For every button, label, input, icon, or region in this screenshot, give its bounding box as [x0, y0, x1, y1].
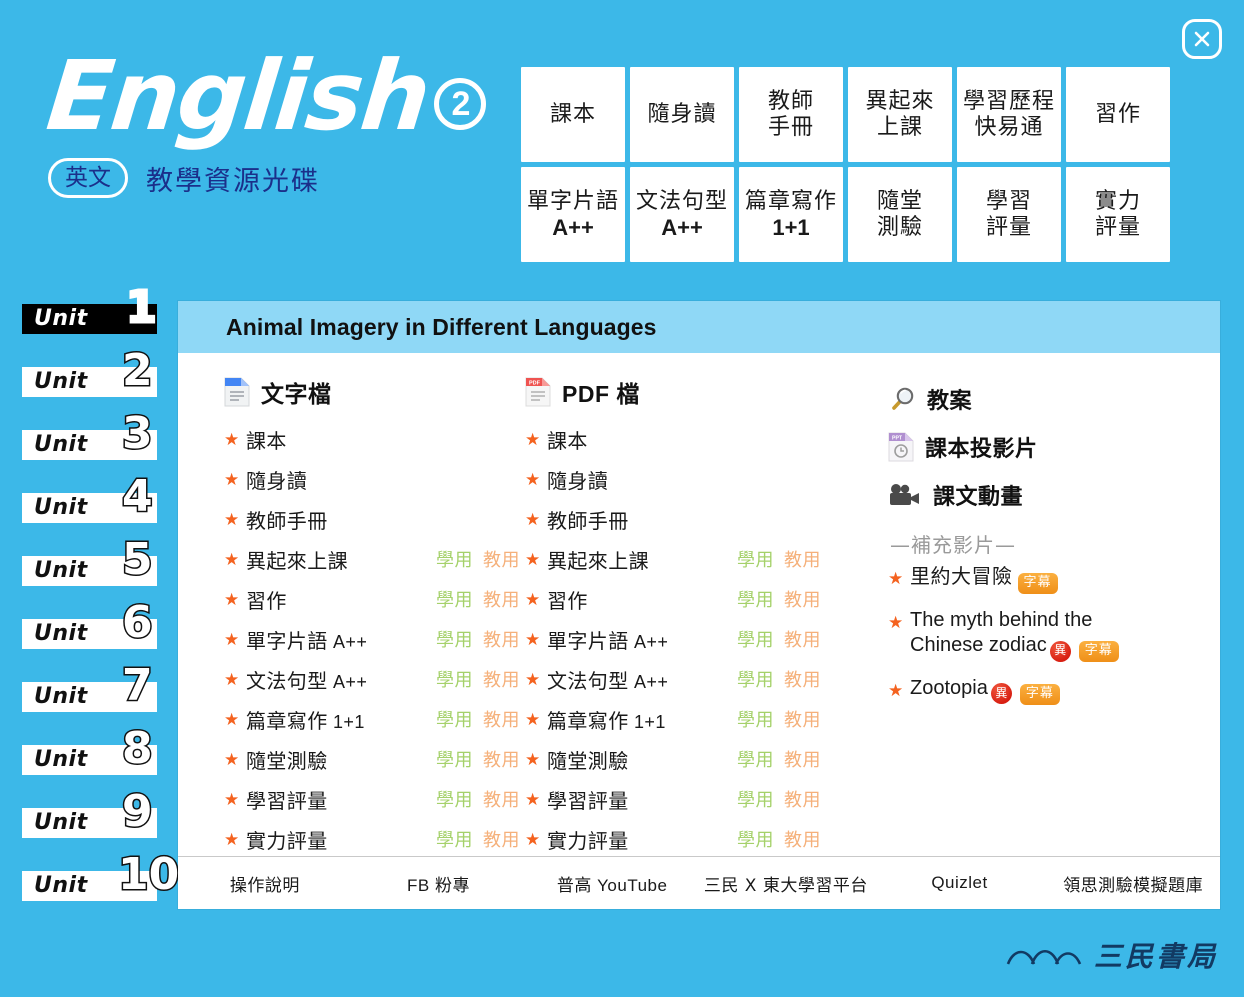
menu-item-2[interactable]: 隨身讀: [630, 67, 734, 162]
pdf-item-list: ★課本★隨身讀★教師手冊★異起來上課學用教用★習作學用教用★單字片語 A++學用…: [525, 419, 838, 859]
pdf-item-row[interactable]: ★教師手冊: [525, 499, 838, 539]
row-label-suffix: A++: [629, 632, 669, 652]
menu-item-5[interactable]: 學習歷程快易通: [957, 67, 1061, 162]
brand-wordmark: English 2: [48, 48, 508, 144]
student-version-link[interactable]: 學用: [737, 586, 774, 612]
unit-button-8[interactable]: Unit8: [22, 737, 172, 781]
video-title-wrap: The myth behind the Chinese zodiac異字幕: [910, 608, 1140, 662]
close-icon: [1192, 29, 1212, 49]
student-version-link[interactable]: 學用: [436, 786, 473, 812]
doc-item-row[interactable]: ★教師手冊: [224, 499, 503, 539]
footer-link-2[interactable]: FB 粉專: [352, 871, 526, 896]
row-variant-links: 學用教用: [737, 706, 845, 732]
pdf-item-row[interactable]: ★學習評量學用教用: [525, 779, 838, 819]
menu-item-11[interactable]: 學習評量: [957, 167, 1061, 262]
star-icon: ★: [224, 511, 246, 528]
unit-button-9[interactable]: Unit9: [22, 800, 172, 844]
student-version-link[interactable]: 學用: [737, 666, 774, 692]
pdf-item-row-label: 教師手冊: [547, 505, 629, 534]
doc-item-row[interactable]: ★隨堂測驗學用教用: [224, 739, 503, 779]
brand-volume-number: 2: [434, 78, 486, 130]
menu-item-line: 快易通: [974, 115, 1043, 141]
textbook-slides-label: 課本投影片: [925, 431, 1038, 463]
publisher-name: 三民書局: [1094, 935, 1218, 975]
menu-item-line: 篇章寫作: [745, 189, 837, 215]
row-variant-links: 學用教用: [737, 546, 845, 572]
teacher-version-link[interactable]: 教用: [784, 666, 821, 692]
unit-button-10[interactable]: Unit10: [22, 863, 172, 907]
menu-item-line: 課本: [550, 102, 596, 128]
pdf-item-row-label: 實力評量: [547, 825, 629, 854]
yi-badge: 異: [1050, 641, 1071, 662]
star-icon: ★: [224, 471, 246, 488]
brand-subtitle: 教學資源光碟: [146, 159, 320, 198]
row-label-suffix: A++: [629, 672, 669, 692]
star-icon: ★: [224, 631, 246, 648]
student-version-link[interactable]: 學用: [436, 826, 473, 852]
pdf-item-row-label: 隨堂測驗: [547, 745, 629, 774]
menu-item-line: 手冊: [768, 115, 814, 141]
subject-pill: 英文: [48, 158, 128, 198]
row-label-suffix: 1+1: [629, 712, 666, 732]
footer-link-4[interactable]: 三民 X 東大學習平台: [699, 871, 873, 896]
unit-button-1[interactable]: Unit1: [22, 296, 172, 340]
unit-word: Unit: [34, 558, 88, 583]
doc-file-icon: [224, 377, 250, 407]
doc-item-row[interactable]: ★課本: [224, 419, 503, 459]
doc-item-row[interactable]: ★學習評量學用教用: [224, 779, 503, 819]
pdf-item-row-label: 異起來上課: [547, 545, 649, 574]
doc-item-row[interactable]: ★篇章寫作 1+1學用教用: [224, 699, 503, 739]
doc-item-row-label: 文法句型 A++: [246, 665, 367, 694]
row-label-suffix: A++: [328, 632, 368, 652]
doc-item-row-label: 隨身讀: [246, 465, 307, 494]
doc-item-row[interactable]: ★異起來上課學用教用: [224, 539, 503, 579]
student-version-link[interactable]: 學用: [737, 706, 774, 732]
menu-item-line: 異起來: [865, 89, 934, 115]
doc-item-row-label: 單字片語 A++: [246, 625, 367, 654]
pdf-item-row[interactable]: ★習作學用教用: [525, 579, 838, 619]
svg-text:PDF: PDF: [529, 381, 541, 387]
star-icon: ★: [224, 711, 246, 728]
student-version-link[interactable]: 學用: [737, 546, 774, 572]
star-icon: ★: [525, 591, 547, 608]
pdf-column-label: PDF 檔: [562, 375, 640, 409]
misc-column: 教案 PPT 課本投影片: [838, 375, 1198, 859]
unit-word: Unit: [34, 684, 88, 709]
brand-wordmark-text: English: [43, 48, 433, 144]
star-icon: ★: [224, 671, 246, 688]
star-icon: ★: [525, 791, 547, 808]
wave-mountain-logo-icon: [1006, 940, 1084, 970]
subtitle-badge: 字幕: [1020, 684, 1060, 705]
unit-rail: Unit1Unit2Unit3Unit4Unit5Unit6Unit7Unit8…: [22, 296, 172, 926]
menu-item-line: 上課: [877, 115, 923, 141]
text-animation-label: 課文動畫: [933, 479, 1023, 511]
doc-item-row[interactable]: ★隨身讀: [224, 459, 503, 499]
pdf-item-row-label: 篇章寫作 1+1: [547, 705, 666, 734]
unit-number: 1: [126, 286, 157, 330]
resource-panel: Animal Imagery in Different Languages 文字…: [178, 301, 1220, 909]
star-icon: ★: [525, 751, 547, 768]
student-version-link[interactable]: 學用: [737, 626, 774, 652]
unit-number: 6: [122, 601, 153, 645]
subtitle-badge: 字幕: [1079, 641, 1119, 662]
unit-number: 10: [118, 853, 179, 897]
pdf-item-row[interactable]: ★篇章寫作 1+1學用教用: [525, 699, 838, 739]
doc-column-label: 文字檔: [261, 375, 332, 409]
student-version-link[interactable]: 學用: [737, 746, 774, 772]
row-variant-links: 學用教用: [737, 746, 845, 772]
star-icon: ★: [888, 682, 910, 699]
menu-item-9[interactable]: 篇章寫作1+1: [739, 167, 843, 262]
star-icon: ★: [525, 671, 547, 688]
video-row[interactable]: ★Zootopia異字幕: [888, 676, 1198, 705]
menu-item-1[interactable]: 課本: [521, 67, 625, 162]
star-icon: ★: [525, 631, 547, 648]
student-version-link[interactable]: 學用: [737, 826, 774, 852]
student-version-link[interactable]: 學用: [737, 786, 774, 812]
footer-link-3[interactable]: 普高 YouTube: [525, 871, 699, 896]
ppt-file-icon: PPT: [888, 432, 914, 462]
pdf-item-row[interactable]: ★課本: [525, 419, 838, 459]
yi-badge: 異: [991, 683, 1012, 704]
star-icon: ★: [224, 751, 246, 768]
doc-item-row-label: 篇章寫作 1+1: [246, 705, 365, 734]
pdf-item-row[interactable]: ★隨身讀: [525, 459, 838, 499]
menu-item-8[interactable]: 文法句型A++: [630, 167, 734, 262]
doc-item-row-label: 課本: [246, 425, 287, 454]
menu-item-line: A++: [661, 215, 703, 241]
panel-body: 文字檔 ★課本★隨身讀★教師手冊★異起來上課學用教用★習作學用教用★單字片語 A…: [178, 353, 1220, 856]
supplementary-video-list: ★里約大冒險字幕★The myth behind the Chinese zod…: [888, 564, 1198, 705]
pdf-column: PDF PDF 檔 ★課本★隨身讀★教師手冊★異起來上課學用教用★習作學用教用★…: [503, 375, 838, 859]
pdf-column-header: PDF PDF 檔: [525, 375, 838, 409]
menu-item-line: 教師: [768, 89, 814, 115]
row-label-suffix: 1+1: [328, 712, 365, 732]
menu-item-line: 實力: [1095, 189, 1141, 215]
text-animation-item[interactable]: 課文動畫: [888, 471, 1198, 519]
menu-item-line: 習作: [1095, 102, 1141, 128]
panel-footer: 操作說明FB 粉專普高 YouTube三民 X 東大學習平台Quizlet領思測…: [178, 856, 1220, 909]
unit-button-5[interactable]: Unit5: [22, 548, 172, 592]
menu-item-7[interactable]: 單字片語A++: [521, 167, 625, 262]
textbook-slides-item[interactable]: PPT 課本投影片: [888, 423, 1198, 471]
lesson-plan-label: 教案: [927, 383, 972, 415]
doc-item-row-label: 學習評量: [246, 785, 328, 814]
publisher-logo: 三民書局: [1006, 935, 1218, 975]
pdf-item-row-label: 單字片語 A++: [547, 625, 668, 654]
unit-button-3[interactable]: Unit3: [22, 422, 172, 466]
unit-number: 8: [122, 727, 153, 771]
doc-item-row-label: 習作: [246, 585, 287, 614]
lesson-plan-item[interactable]: 教案: [888, 375, 1198, 423]
student-version-link[interactable]: 學用: [436, 746, 473, 772]
doc-item-row-label: 異起來上課: [246, 545, 348, 574]
star-icon: ★: [888, 614, 910, 631]
star-icon: ★: [525, 511, 547, 528]
menu-item-10[interactable]: 隨堂測驗: [848, 167, 952, 262]
unit-button-2[interactable]: Unit2: [22, 359, 172, 403]
row-variant-links: 學用教用: [737, 826, 845, 852]
pdf-item-row[interactable]: ★實力評量學用教用: [525, 819, 838, 859]
student-version-link[interactable]: 學用: [436, 706, 473, 732]
star-icon: ★: [224, 551, 246, 568]
unit-word: Unit: [34, 621, 88, 646]
video-row[interactable]: ★里約大冒險字幕: [888, 564, 1198, 594]
row-label-suffix: A++: [328, 672, 368, 692]
menu-item-line: 學習歷程: [963, 89, 1055, 115]
pdf-file-icon: PDF: [525, 377, 551, 407]
pdf-item-row[interactable]: ★隨堂測驗學用教用: [525, 739, 838, 779]
menu-item-3[interactable]: 教師手冊: [739, 67, 843, 162]
pdf-item-row-label: 文法句型 A++: [547, 665, 668, 694]
menu-item-4[interactable]: 異起來上課: [848, 67, 952, 162]
teacher-version-link[interactable]: 教用: [784, 626, 821, 652]
pdf-item-row[interactable]: ★單字片語 A++學用教用: [525, 619, 838, 659]
unit-word: Unit: [34, 873, 88, 898]
pdf-item-row-label: 習作: [547, 585, 588, 614]
unit-word: Unit: [34, 747, 88, 772]
star-icon: ★: [224, 431, 246, 448]
unit-number: 4: [122, 475, 153, 519]
pdf-item-row[interactable]: ★文法句型 A++學用教用: [525, 659, 838, 699]
unit-word: Unit: [34, 495, 88, 520]
menu-item-6[interactable]: 習作: [1066, 67, 1170, 162]
menu-item-line: 文法句型: [636, 189, 728, 215]
menu-item-line: 1+1: [772, 215, 809, 241]
menu-item-line: 評量: [1095, 215, 1141, 241]
doc-column: 文字檔 ★課本★隨身讀★教師手冊★異起來上課學用教用★習作學用教用★單字片語 A…: [178, 375, 503, 859]
star-icon: ★: [525, 551, 547, 568]
student-version-link[interactable]: 學用: [436, 666, 473, 692]
pdf-item-row-label: 課本: [547, 425, 588, 454]
pdf-item-row-label: 隨身讀: [547, 465, 608, 494]
row-variant-links: 學用教用: [737, 586, 845, 612]
star-icon: ★: [525, 711, 547, 728]
magnifier-icon: [888, 385, 916, 413]
student-version-link[interactable]: 學用: [436, 546, 473, 572]
student-version-link[interactable]: 學用: [436, 626, 473, 652]
doc-item-row[interactable]: ★實力評量學用教用: [224, 819, 503, 859]
doc-item-row-label: 教師手冊: [246, 505, 328, 534]
doc-item-row[interactable]: ★文法句型 A++學用教用: [224, 659, 503, 699]
unit-number: 7: [122, 664, 153, 708]
unit-number: 9: [122, 790, 153, 834]
unit-button-4[interactable]: Unit4: [22, 485, 172, 529]
teacher-version-link[interactable]: 教用: [784, 546, 821, 572]
video-title: Zootopia: [910, 677, 988, 699]
teacher-version-link[interactable]: 教用: [784, 746, 821, 772]
footer-link-5[interactable]: Quizlet: [873, 873, 1047, 893]
menu-item-line: 單字片語: [527, 189, 619, 215]
menu-item-12[interactable]: 實力評量: [1066, 167, 1170, 262]
menu-item-line: A++: [552, 215, 594, 241]
unit-word: Unit: [34, 432, 88, 457]
star-icon: ★: [224, 791, 246, 808]
star-icon: ★: [525, 431, 547, 448]
menu-item-line: 評量: [986, 215, 1032, 241]
doc-item-row[interactable]: ★習作學用教用: [224, 579, 503, 619]
svg-text:PPT: PPT: [892, 436, 903, 442]
panel-header: Animal Imagery in Different Languages: [178, 301, 1220, 353]
doc-column-header: 文字檔: [224, 375, 503, 409]
teacher-version-link[interactable]: 教用: [784, 706, 821, 732]
doc-item-row-label: 隨堂測驗: [246, 745, 328, 774]
video-camera-icon: [888, 482, 922, 508]
teacher-version-link[interactable]: 教用: [784, 786, 821, 812]
page-title: Animal Imagery in Different Languages: [226, 314, 657, 341]
menu-item-line: 隨堂: [877, 189, 923, 215]
supplementary-videos-divider: —補充影片—: [890, 529, 1198, 558]
unit-number: 3: [122, 412, 153, 456]
close-window-button[interactable]: [1182, 19, 1222, 59]
star-icon: ★: [525, 471, 547, 488]
unit-word: Unit: [34, 810, 88, 835]
video-title-wrap: 里約大冒險字幕: [910, 564, 1058, 594]
star-icon: ★: [224, 591, 246, 608]
doc-item-row[interactable]: ★單字片語 A++學用教用: [224, 619, 503, 659]
unit-button-7[interactable]: Unit7: [22, 674, 172, 718]
unit-number: 5: [122, 538, 153, 582]
menu-item-line: 測驗: [877, 215, 923, 241]
teacher-version-link[interactable]: 教用: [784, 826, 821, 852]
pdf-item-row-label: 學習評量: [547, 785, 629, 814]
unit-number: 2: [122, 349, 153, 393]
menu-item-line: 學習: [986, 189, 1032, 215]
footer-link-1[interactable]: 操作說明: [178, 871, 352, 896]
unit-button-6[interactable]: Unit6: [22, 611, 172, 655]
video-title: 里約大冒險: [910, 564, 1013, 588]
row-variant-links: 學用教用: [737, 626, 845, 652]
star-icon: ★: [525, 831, 547, 848]
doc-item-list: ★課本★隨身讀★教師手冊★異起來上課學用教用★習作學用教用★單字片語 A++學用…: [224, 419, 503, 859]
subtitle-badge: 字幕: [1018, 573, 1058, 594]
menu-item-line: 隨身讀: [647, 102, 716, 128]
pdf-item-row[interactable]: ★異起來上課學用教用: [525, 539, 838, 579]
unit-word: Unit: [34, 369, 88, 394]
unit-word: Unit: [34, 306, 88, 331]
star-icon: ★: [224, 831, 246, 848]
row-variant-links: 學用教用: [737, 666, 845, 692]
brand-block: English 2 英文 教學資源光碟: [48, 48, 508, 198]
doc-item-row-label: 實力評量: [246, 825, 328, 854]
video-title-wrap: Zootopia異字幕: [910, 676, 1060, 705]
row-variant-links: 學用教用: [737, 786, 845, 812]
star-icon: ★: [888, 570, 910, 587]
top-menu-grid: 課本隨身讀教師手冊異起來上課學習歷程快易通習作單字片語A++文法句型A++篇章寫…: [521, 67, 1170, 262]
video-row[interactable]: ★The myth behind the Chinese zodiac異字幕: [888, 608, 1198, 662]
footer-link-6[interactable]: 領思測驗模擬題庫: [1046, 871, 1220, 896]
student-version-link[interactable]: 學用: [436, 586, 473, 612]
teacher-version-link[interactable]: 教用: [784, 586, 821, 612]
